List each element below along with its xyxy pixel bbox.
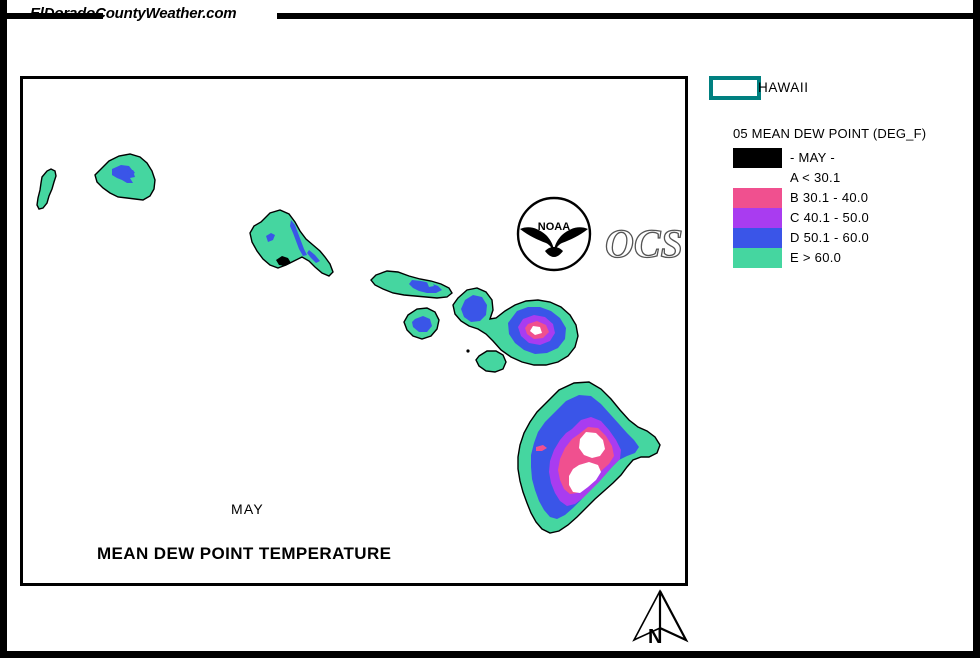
legend-swatch-d <box>733 228 782 248</box>
ocs-logo-text: OCS <box>601 219 688 267</box>
legend-row-b: B 30.1 - 40.0 <box>706 188 961 208</box>
title-rule-right <box>277 13 973 19</box>
legend-region-label: HAWAII <box>758 78 809 98</box>
legend-label-a: A < 30.1 <box>790 168 840 188</box>
legend-row-e: E > 60.0 <box>706 248 961 268</box>
map-month-label: MAY <box>231 501 264 517</box>
map-panel[interactable]: .coast{stroke:#000;stroke-width:1.4;} .b… <box>20 76 688 586</box>
island-maui <box>453 288 578 365</box>
legend-label-month: - MAY - <box>790 148 835 168</box>
legend-row-month: - MAY - <box>706 148 961 168</box>
hawaii-islands-map: .coast{stroke:#000;stroke-width:1.4;} .b… <box>23 79 685 583</box>
noaa-emblem-text: NOAA <box>538 221 570 233</box>
island-niihau <box>37 169 56 209</box>
legend-swatch-c <box>733 208 782 228</box>
legend-swatch-b <box>733 188 782 208</box>
legend-row-c: C 40.1 - 50.0 <box>706 208 961 228</box>
site-title: ElDoradoCountyWeather.com <box>30 4 280 24</box>
island-molokai <box>371 271 452 298</box>
north-arrow-label: N <box>648 626 662 648</box>
map-title-label: MEAN DEW POINT TEMPERATURE <box>97 544 391 564</box>
legend-row-a: A < 30.1 <box>706 168 961 188</box>
legend-swatch-month <box>733 148 782 168</box>
legend-label-b: B 30.1 - 40.0 <box>790 188 868 208</box>
legend-swatch-e <box>733 248 782 268</box>
island-lanai <box>404 308 439 339</box>
island-hawaii <box>518 382 660 533</box>
legend-region-swatch <box>709 76 761 100</box>
legend-label-e: E > 60.0 <box>790 248 841 268</box>
legend-label-c: C 40.1 - 50.0 <box>790 208 869 228</box>
map-legend: HAWAII 05 MEAN DEW POINT (DEG_F) - MAY -… <box>706 72 968 272</box>
island-oahu <box>250 210 333 276</box>
ocs-label: OCS <box>605 221 683 266</box>
noaa-logo-icon: NOAA <box>515 195 593 273</box>
legend-swatch-a <box>733 168 782 188</box>
legend-row-d: D 50.1 - 60.0 <box>706 228 961 248</box>
island-kahoolawe <box>466 349 506 372</box>
legend-region-row: HAWAII <box>706 76 961 100</box>
island-kauai <box>95 154 155 200</box>
legend-label-d: D 50.1 - 60.0 <box>790 228 869 248</box>
legend-title: 05 MEAN DEW POINT (DEG_F) <box>733 126 926 141</box>
